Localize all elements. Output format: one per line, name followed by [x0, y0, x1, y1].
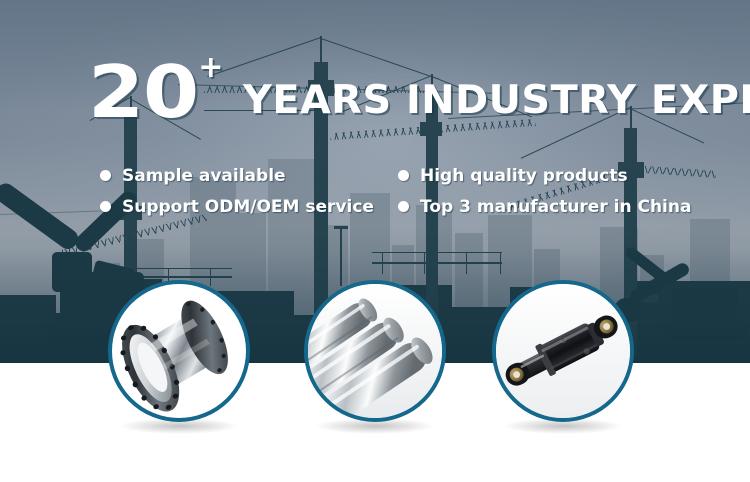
hydraulic-cylinder-icon — [496, 284, 630, 418]
product-circle-steel-bars[interactable] — [304, 280, 446, 422]
steel-flange-pipe-fitting-icon — [112, 284, 246, 418]
product-circle-hydraulic-cylinder[interactable] — [492, 280, 634, 422]
promotional-banner: 20 + YEARS INDUSTRY EXPERIENCE Sample av… — [0, 0, 750, 482]
product-circle-steel-flange[interactable] — [108, 280, 250, 422]
product-showcase — [0, 0, 750, 482]
steel-round-bars-icon — [308, 284, 442, 418]
